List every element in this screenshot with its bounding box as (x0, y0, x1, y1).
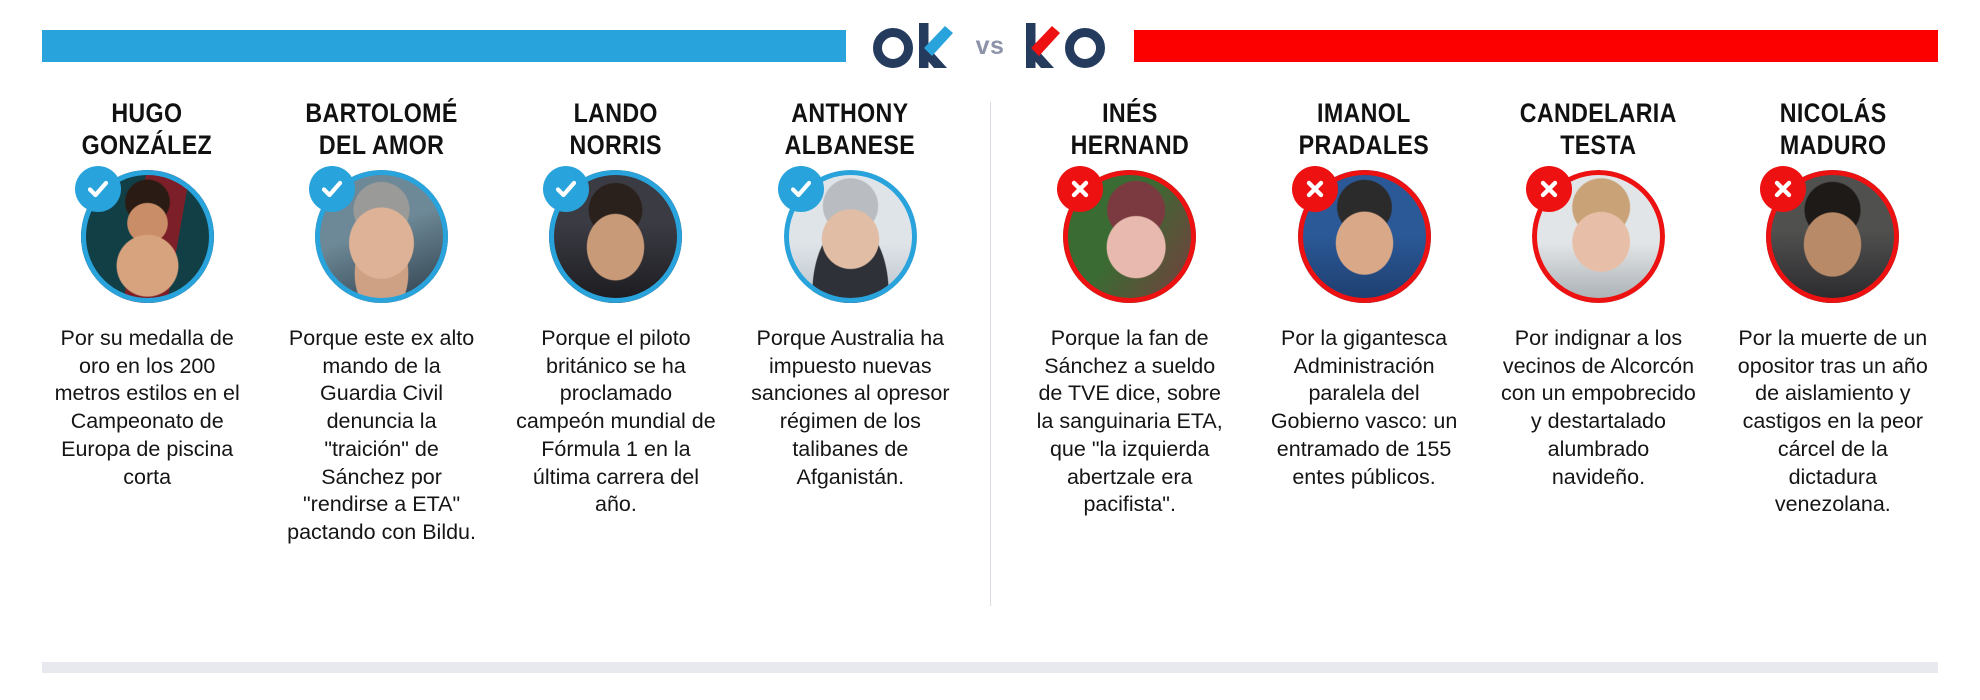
cross-icon (1057, 166, 1103, 212)
portrait-wrapper (549, 170, 682, 303)
portrait-wrapper (1532, 170, 1665, 303)
person-description: Por la muerte de un opositor tras un año… (1733, 325, 1933, 519)
person-name: HUGO GONZÁLEZ (82, 98, 212, 164)
person-name: ANTHONY ALBANESE (785, 98, 915, 164)
person-name: BARTOLOMÉ DEL AMOR (305, 98, 457, 164)
ok-logo-icon (872, 23, 958, 69)
check-icon (778, 166, 824, 212)
ok-card-3[interactable]: LANDO NORRIS Porque el piloto británico … (499, 92, 733, 652)
ko-card-4[interactable]: NICOLÁS MADURO Por la muerte de un oposi… (1716, 92, 1950, 652)
ko-card-1[interactable]: INÉS HERNAND Porque la fan de Sánchez a … (1013, 92, 1247, 652)
ko-card-2[interactable]: IMANOL PRADALES Por la gigantesca Admini… (1247, 92, 1481, 652)
person-description: Porque este ex alto mando de la Guardia … (282, 325, 482, 547)
ok-card-4[interactable]: ANTHONY ALBANESE Porque Australia ha imp… (733, 92, 967, 652)
person-name: IMANOL PRADALES (1299, 98, 1429, 164)
person-description: Porque Australia ha impuesto nuevas sanc… (750, 325, 950, 491)
cross-icon (1760, 166, 1806, 212)
ok-column-group: HUGO GONZÁLEZ Por su medalla de oro en l… (0, 92, 968, 652)
person-description: Por la gigantesca Administración paralel… (1264, 325, 1464, 491)
check-icon (75, 166, 121, 212)
ko-card-3[interactable]: CANDELARIA TESTA Por indignar a los veci… (1481, 92, 1715, 652)
vs-label: vs (976, 32, 1005, 61)
person-name: INÉS HERNAND (1070, 98, 1189, 164)
okdiario-ok-vs-ko-graphic: vs HUGO GONZÁLEZ (0, 0, 1980, 700)
footer-divider (42, 662, 1938, 673)
ok-card-2[interactable]: BARTOLOMÉ DEL AMOR Porque este ex alto m… (264, 92, 498, 652)
person-name: NICOLÁS MADURO (1779, 98, 1886, 164)
portrait-wrapper (784, 170, 917, 303)
person-name: CANDELARIA TESTA (1520, 98, 1677, 164)
header: vs (0, 0, 1980, 92)
portrait-wrapper (1298, 170, 1431, 303)
ko-logo-icon (1022, 23, 1108, 69)
person-name: LANDO NORRIS (570, 98, 662, 164)
cross-icon (1526, 166, 1572, 212)
person-description: Por su medalla de oro en los 200 metros … (47, 325, 247, 491)
center-divider (990, 102, 991, 606)
comparison-board: HUGO GONZÁLEZ Por su medalla de oro en l… (0, 92, 1980, 652)
person-description: Por indignar a los vecinos de Alcorcón c… (1498, 325, 1698, 491)
portrait-wrapper (81, 170, 214, 303)
portrait-wrapper (1063, 170, 1196, 303)
ok-vs-ko-logo: vs (846, 16, 1135, 76)
ko-header-bar (1134, 30, 1938, 62)
check-icon (309, 166, 355, 212)
cross-icon (1292, 166, 1338, 212)
ok-card-1[interactable]: HUGO GONZÁLEZ Por su medalla de oro en l… (30, 92, 264, 652)
ko-column-group: INÉS HERNAND Porque la fan de Sánchez a … (1013, 92, 1980, 652)
person-description: Porque el piloto británico se ha proclam… (516, 325, 716, 519)
person-description: Porque la fan de Sánchez a sueldo de TVE… (1030, 325, 1230, 519)
ok-header-bar (42, 30, 846, 62)
portrait-wrapper (1766, 170, 1899, 303)
portrait-wrapper (315, 170, 448, 303)
